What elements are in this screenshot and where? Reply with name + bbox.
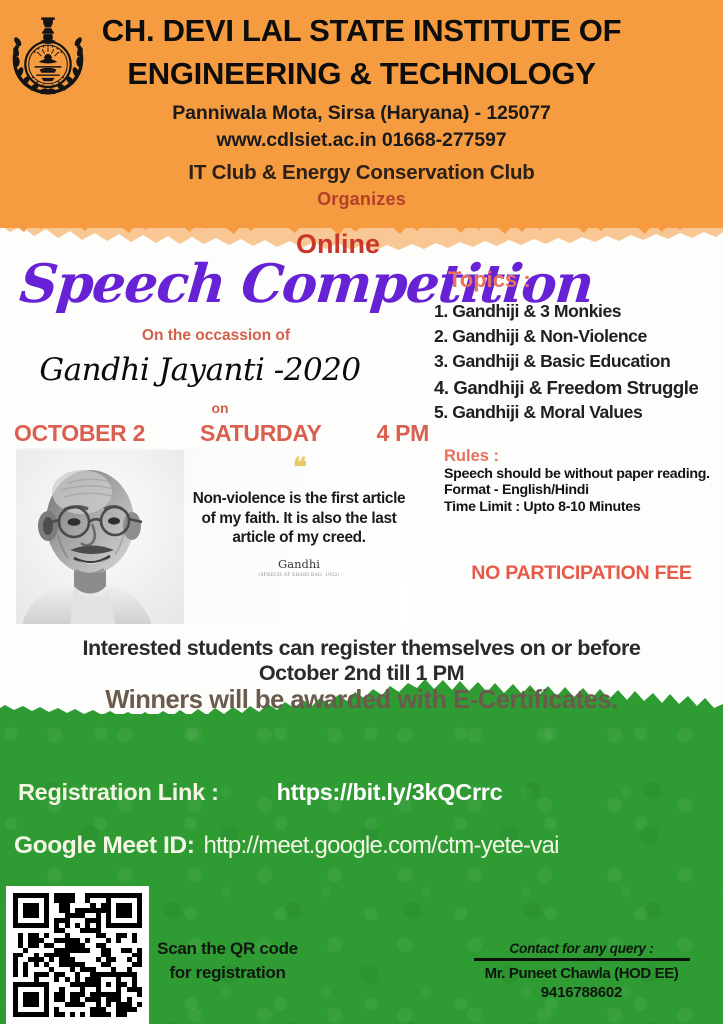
list-item: 5. Gandhiji & Moral Values <box>434 400 723 425</box>
on-connector-label: on <box>0 400 440 416</box>
event-date: OCTOBER 2 <box>14 420 145 447</box>
google-meet-url[interactable]: http://meet.google.com/ctm-yete-vai <box>203 832 558 860</box>
contact-name: Mr. Puneet Chawla (HOD EE) <box>440 965 723 982</box>
quote-text-block: ❝ Non-violence is the first article of m… <box>184 448 414 624</box>
rule-line-3: Time Limit : Upto 8-10 Minutes <box>444 499 719 515</box>
topics-list: 1. Gandhiji & 3 Monkies 2. Gandhiji & No… <box>434 299 723 425</box>
contact-block: Contact for any query : Mr. Puneet Chawl… <box>440 941 723 1001</box>
poster-canvas: CH. DEVI LAL STATE INSTITUTE OF ENGINEER… <box>0 0 723 1024</box>
registration-link-label: Registration Link : <box>18 779 219 806</box>
quote-author: Gandhi <box>184 557 414 571</box>
gandhi-portrait-icon <box>16 448 184 624</box>
list-item: 2. Gandhiji & Non-Violence <box>434 324 723 349</box>
rule-line-2: Format - English/Hindi <box>444 482 719 498</box>
quote-source: (SPEECH AT SHAHI BAG, 1922) <box>184 573 414 578</box>
participation-fee-note: NO PARTICIPATION FEE <box>440 562 723 585</box>
registration-link-row: Registration Link : https://bit.ly/3kQCr… <box>18 779 718 806</box>
google-meet-label: Google Meet ID: <box>14 832 194 860</box>
institute-header: CH. DEVI LAL STATE INSTITUTE OF ENGINEER… <box>0 0 723 185</box>
quote-mark-icon: ❝ <box>184 461 414 475</box>
institute-address: Panniwala Mota, Sirsa (Haryana) - 125077 <box>0 91 723 125</box>
rules-heading: Rules : <box>444 447 499 466</box>
winners-note: Winners will be awarded with E-Certifica… <box>0 686 723 715</box>
contact-divider <box>474 958 690 961</box>
registration-notice: Interested students can register themsel… <box>0 635 723 685</box>
quote-text: Non-violence is the first article of my … <box>184 489 414 548</box>
haryana-government-emblem-icon <box>6 14 90 98</box>
organizing-clubs: IT Club & Energy Conservation Club <box>0 152 723 185</box>
list-item: 3. Gandhiji & Basic Education <box>434 349 723 374</box>
occasion-name: Gandhi Jayanti -2020 <box>0 352 400 388</box>
registration-link-url[interactable]: https://bit.ly/3kQCrrc <box>277 779 503 806</box>
gandhi-quote-card: ❝ Non-violence is the first article of m… <box>16 448 414 624</box>
institute-name-line2: ENGINEERING & TECHNOLOGY <box>0 48 723 91</box>
qr-code-icon[interactable] <box>6 886 149 1024</box>
list-item: 1. Gandhiji & 3 Monkies <box>434 299 723 324</box>
topics-heading: Topics : <box>448 267 531 293</box>
event-day: SATURDAY <box>200 420 322 447</box>
qr-caption: Scan the QR code for registration <box>150 937 305 984</box>
contact-heading: Contact for any query : <box>440 941 723 956</box>
institute-contact: www.cdlsiet.ac.in 01668-277597 <box>0 125 723 152</box>
list-item: 4. Gandhiji & Freedom Struggle <box>434 375 723 400</box>
rules-body: Speech should be without paper reading. … <box>444 466 719 515</box>
contact-phone: 9416788602 <box>440 984 723 1001</box>
google-meet-row: Google Meet ID: http://meet.google.com/c… <box>14 832 723 860</box>
organizes-label: Organizes <box>0 189 723 210</box>
event-datetime-bar: OCTOBER 2 SATURDAY 4 PM <box>14 420 429 447</box>
event-title: Speech Competition <box>17 255 442 313</box>
occasion-prefix: On the occassion of <box>0 327 432 345</box>
notice-line-1: Interested students can register themsel… <box>0 635 723 660</box>
event-time: 4 PM <box>377 420 429 447</box>
rule-line-1: Speech should be without paper reading. <box>444 466 719 482</box>
institute-name-line1: CH. DEVI LAL STATE INSTITUTE OF <box>0 0 723 48</box>
notice-line-2: October 2nd till 1 PM <box>0 660 723 685</box>
